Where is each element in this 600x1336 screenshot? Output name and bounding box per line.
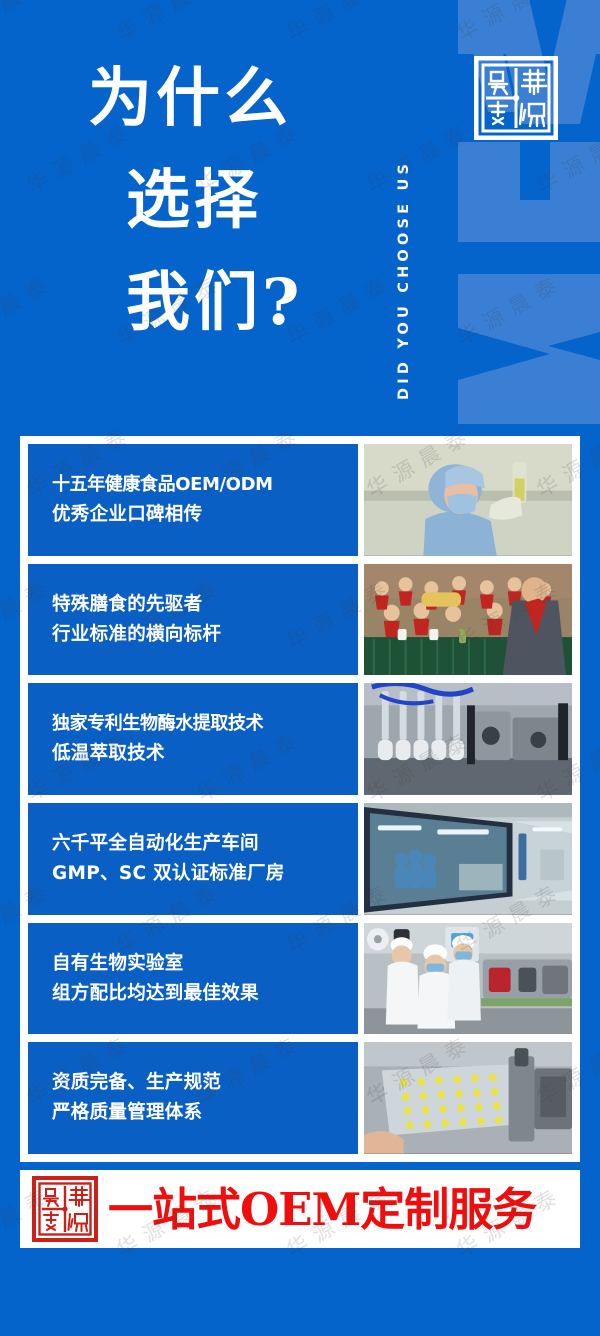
hero-title-line-2: 选择	[88, 150, 388, 252]
feature-line: 组方配比均达到最佳效果	[52, 979, 358, 1009]
footer-bar: 一站式OEM定制服务	[20, 1170, 580, 1248]
feature-line: 优秀企业口碑相传	[52, 500, 358, 530]
feature-row: 特殊膳食的先驱者 行业标准的横向标杆	[28, 564, 572, 676]
feature-image-conference-audience-hall	[364, 564, 572, 676]
feature-image-technicians-at-production-line	[364, 923, 572, 1035]
feature-image-cleanroom-corridor-workshop	[364, 803, 572, 915]
feature-image-tablet-blister-packing-machine	[364, 1042, 572, 1154]
hero-title-line-3: 我们?	[88, 252, 388, 354]
hero-vertical-caption: DID YOU CHOOSE US	[396, 28, 422, 400]
features-panel: 十五年健康食品OEM/ODM 优秀企业口碑相传	[20, 436, 580, 1162]
feature-row: 资质完备、生产规范 严格质量管理体系	[28, 1042, 572, 1154]
feature-line: 六千平全自动化生产车间	[52, 829, 358, 859]
feature-row: 六千平全自动化生产车间 GMP、SC 双认证标准厂房	[28, 803, 572, 915]
company-seal-white-icon	[474, 56, 558, 140]
hero-section: 为什么 选择 我们? DID YOU CHOOSE US	[0, 0, 600, 432]
feature-text-box: 资质完备、生产规范 严格质量管理体系	[28, 1042, 358, 1154]
poster-root: 为什么 选择 我们? DID YOU CHOOSE US	[0, 0, 600, 1336]
feature-line: 特殊膳食的先驱者	[52, 590, 358, 620]
feature-line: 自有生物实验室	[52, 949, 358, 979]
feature-row: 十五年健康食品OEM/ODM 优秀企业口碑相传	[28, 444, 572, 556]
hero-title: 为什么 选择 我们?	[88, 48, 388, 354]
feature-text-box: 六千平全自动化生产车间 GMP、SC 双认证标准厂房	[28, 803, 358, 915]
feature-line: 独家专利生物酶水提取技术	[52, 709, 358, 739]
feature-image-lab-technician-inspecting-sample	[364, 444, 572, 556]
feature-row: 独家专利生物酶水提取技术 低温萃取技术	[28, 683, 572, 795]
feature-line: 十五年健康食品OEM/ODM	[52, 470, 358, 500]
feature-line: 低温萃取技术	[52, 739, 358, 769]
feature-text-box: 独家专利生物酶水提取技术 低温萃取技术	[28, 683, 358, 795]
feature-line: 资质完备、生产规范	[52, 1068, 358, 1098]
feature-line: 严格质量管理体系	[52, 1098, 358, 1128]
feature-image-bottling-filling-machine	[364, 683, 572, 795]
feature-text-box: 特殊膳食的先驱者 行业标准的横向标杆	[28, 564, 358, 676]
footer-slogan: 一站式OEM定制服务	[108, 1187, 536, 1232]
feature-row: 自有生物实验室 组方配比均达到最佳效果	[28, 923, 572, 1035]
feature-text-box: 十五年健康食品OEM/ODM 优秀企业口碑相传	[28, 444, 358, 556]
hero-title-line-1: 为什么	[88, 48, 388, 150]
feature-text-box: 自有生物实验室 组方配比均达到最佳效果	[28, 923, 358, 1035]
company-seal-red-icon	[32, 1176, 98, 1242]
feature-line: 行业标准的横向标杆	[52, 620, 358, 650]
features-list: 十五年健康食品OEM/ODM 优秀企业口碑相传	[28, 444, 572, 1154]
feature-line: GMP、SC 双认证标准厂房	[52, 859, 358, 889]
